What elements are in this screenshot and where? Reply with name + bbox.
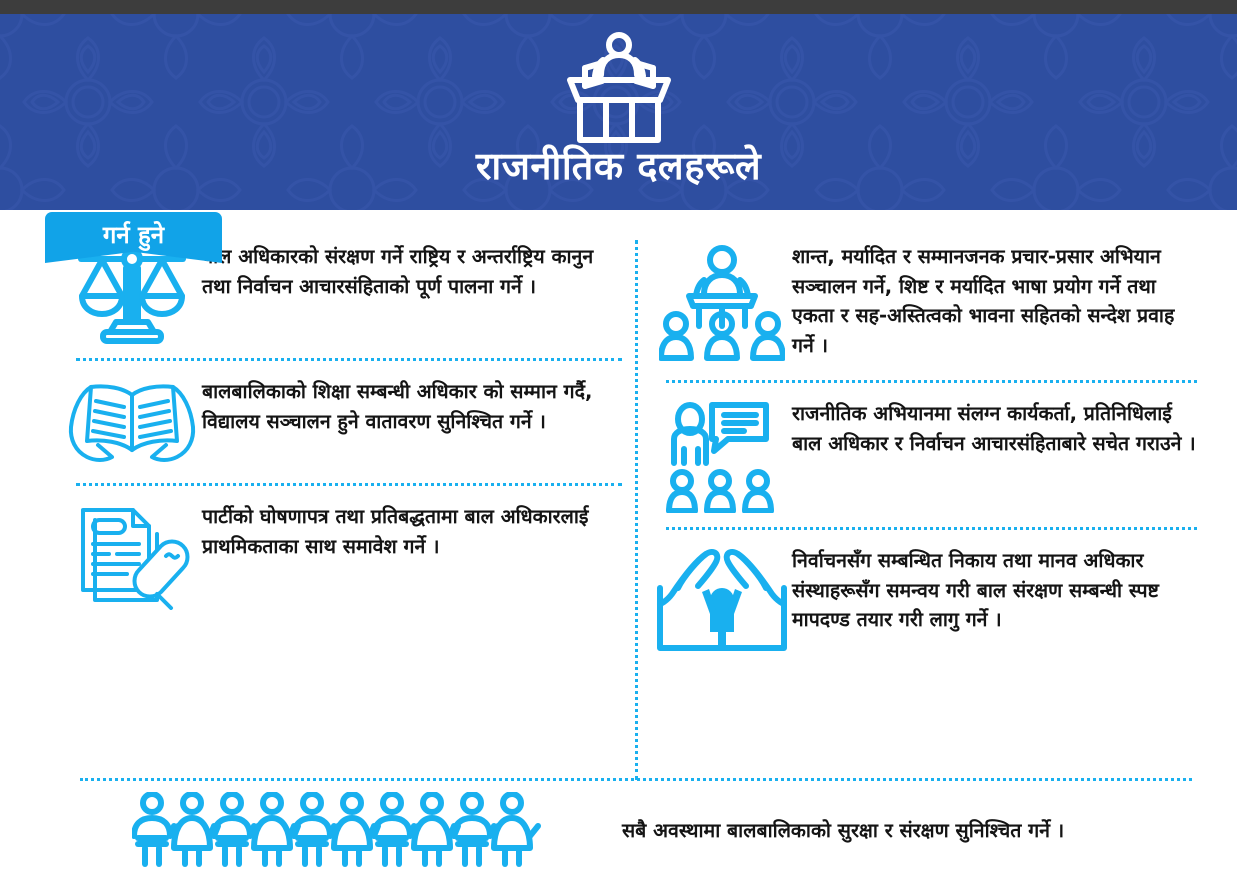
children-holding-hands-icon xyxy=(62,792,622,870)
speaker-at-podium-with-audience-icon xyxy=(652,240,792,366)
bottom-row-text: सबै अवस्थामा बालबालिकाको सुरक्षा र संरक्… xyxy=(622,816,1192,845)
list-item-text: पार्टीको घोषणापत्र तथा प्रतिबद्धतामा बाल… xyxy=(202,500,622,561)
item-separator xyxy=(76,483,622,486)
list-item: पार्टीको घोषणापत्र तथा प्रतिबद्धतामा बाल… xyxy=(62,500,622,610)
list-item: बाल अधिकारको संरक्षण गर्ने राष्ट्रिय र अ… xyxy=(62,240,622,344)
list-item: बालबालिकाको शिक्षा सम्बन्धी अधिकार को सम… xyxy=(62,375,622,469)
item-separator xyxy=(666,527,1197,530)
list-item-text: बालबालिकाको शिक्षा सम्बन्धी अधिकार को सम… xyxy=(202,375,622,436)
item-separator xyxy=(666,380,1197,383)
column-divider xyxy=(635,240,638,780)
infographic-page: राजनीतिक दलहरूले गर्न हुने xyxy=(0,0,1237,871)
list-item: राजनीतिक अभियानमा संलग्न कार्यकर्ता, प्र… xyxy=(652,397,1197,513)
section-tab-label: गर्न हुने xyxy=(45,218,222,251)
bottom-separator xyxy=(80,778,1192,781)
list-item-text: बाल अधिकारको संरक्षण गर्ने राष्ट्रिय र अ… xyxy=(202,240,622,301)
list-item: शान्त, मर्यादित र सम्मानजनक प्रचार-प्रसा… xyxy=(652,240,1197,366)
list-item-text: शान्त, मर्यादित र सम्मानजनक प्रचार-प्रसा… xyxy=(792,240,1197,361)
list-item-text: राजनीतिक अभियानमा संलग्न कार्यकर्ता, प्र… xyxy=(792,397,1197,458)
page-title: राजनीतिक दलहरूले xyxy=(0,146,1237,188)
header-banner: राजनीतिक दलहरूले xyxy=(0,14,1237,210)
podium-speaker-icon xyxy=(554,28,684,146)
list-item-text: निर्वाचनसँग सम्बन्धित निकाय तथा मानव अधि… xyxy=(792,544,1197,635)
left-column: बाल अधिकारको संरक्षण गर्ने राष्ट्रिय र अ… xyxy=(62,240,622,610)
bottom-row: सबै अवस्थामा बालबालिकाको सुरक्षा र संरक्… xyxy=(62,792,1192,870)
content-area: बाल अधिकारको संरक्षण गर्ने राष्ट्रिय र अ… xyxy=(0,210,1237,871)
person-speech-bubble-crowd-icon xyxy=(652,397,792,513)
item-separator xyxy=(76,358,622,361)
manifesto-megaphone-icon xyxy=(62,500,202,610)
open-book-in-hands-icon xyxy=(62,375,202,469)
right-column: शान्त, मर्यादित र सम्मानजनक प्रचार-प्रसा… xyxy=(652,240,1197,654)
top-dark-strip xyxy=(0,0,1237,14)
hands-protecting-child-icon xyxy=(652,544,792,654)
list-item: निर्वाचनसँग सम्बन्धित निकाय तथा मानव अधि… xyxy=(652,544,1197,654)
